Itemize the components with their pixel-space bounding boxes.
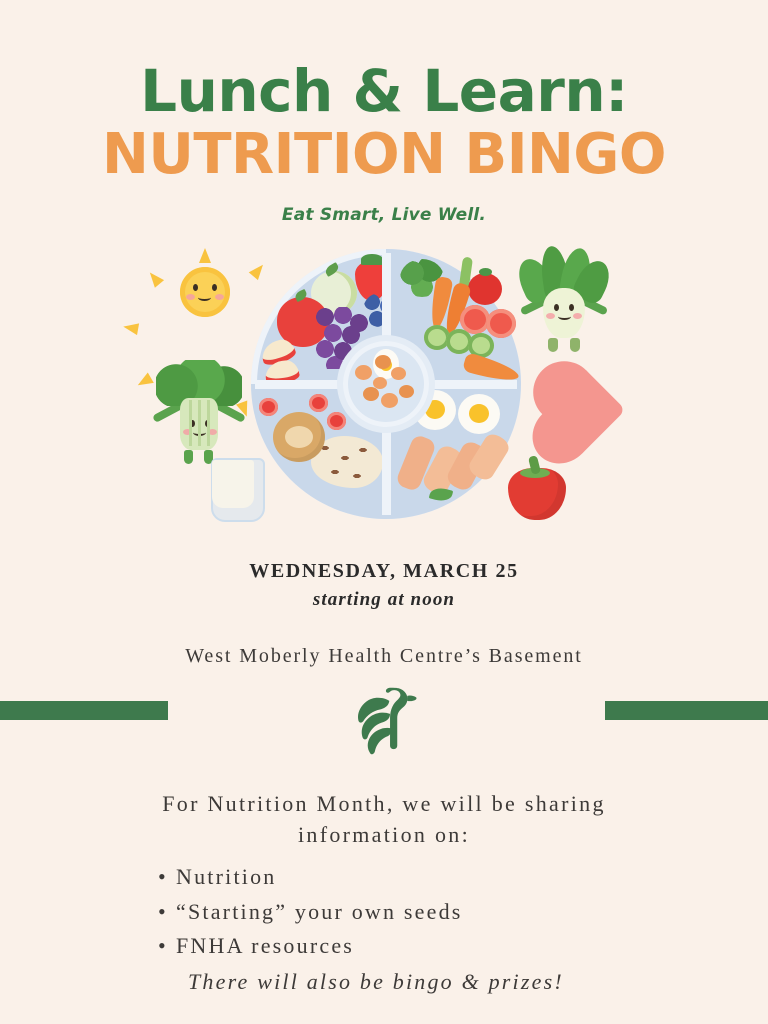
center-bowl-section	[343, 341, 429, 427]
list-item: Nutrition	[158, 860, 768, 894]
bok-choy-icon	[516, 244, 612, 354]
heart-icon	[547, 376, 623, 446]
list-item: FNHA resources	[158, 929, 768, 963]
illustration-area	[0, 236, 768, 546]
page-title-secondary: NUTRITION BINGO	[0, 124, 768, 187]
divider-bar-left	[0, 701, 168, 720]
sun-icon	[161, 248, 249, 336]
balanced-meal-plate	[251, 249, 521, 519]
intro-text: For Nutrition Month, we will be sharing …	[0, 788, 768, 850]
west-moberly-swan-logo	[349, 676, 421, 756]
event-venue: West Moberly Health Centre’s Basement	[0, 645, 768, 668]
event-details: WEDNESDAY, MARCH 25 starting at noon Wes…	[0, 560, 768, 668]
page-title-primary: Lunch & Learn:	[0, 62, 768, 120]
title-block: Lunch & Learn: NUTRITION BINGO Eat Smart…	[0, 62, 768, 225]
topics-list: Nutrition “Starting” your own seeds FNHA…	[0, 860, 768, 962]
event-time: starting at noon	[0, 589, 768, 611]
list-item: “Starting” your own seeds	[158, 895, 768, 929]
broccoli-icon	[150, 360, 248, 464]
poster-canvas: Lunch & Learn: NUTRITION BINGO Eat Smart…	[0, 0, 768, 1024]
closing-text: There will also be bingo & prizes!	[0, 965, 768, 998]
body-content: For Nutrition Month, we will be sharing …	[0, 788, 768, 998]
divider-bar-right	[605, 701, 768, 720]
tagline: Eat Smart, Live Well.	[0, 205, 768, 225]
event-date: WEDNESDAY, MARCH 25	[0, 560, 768, 583]
